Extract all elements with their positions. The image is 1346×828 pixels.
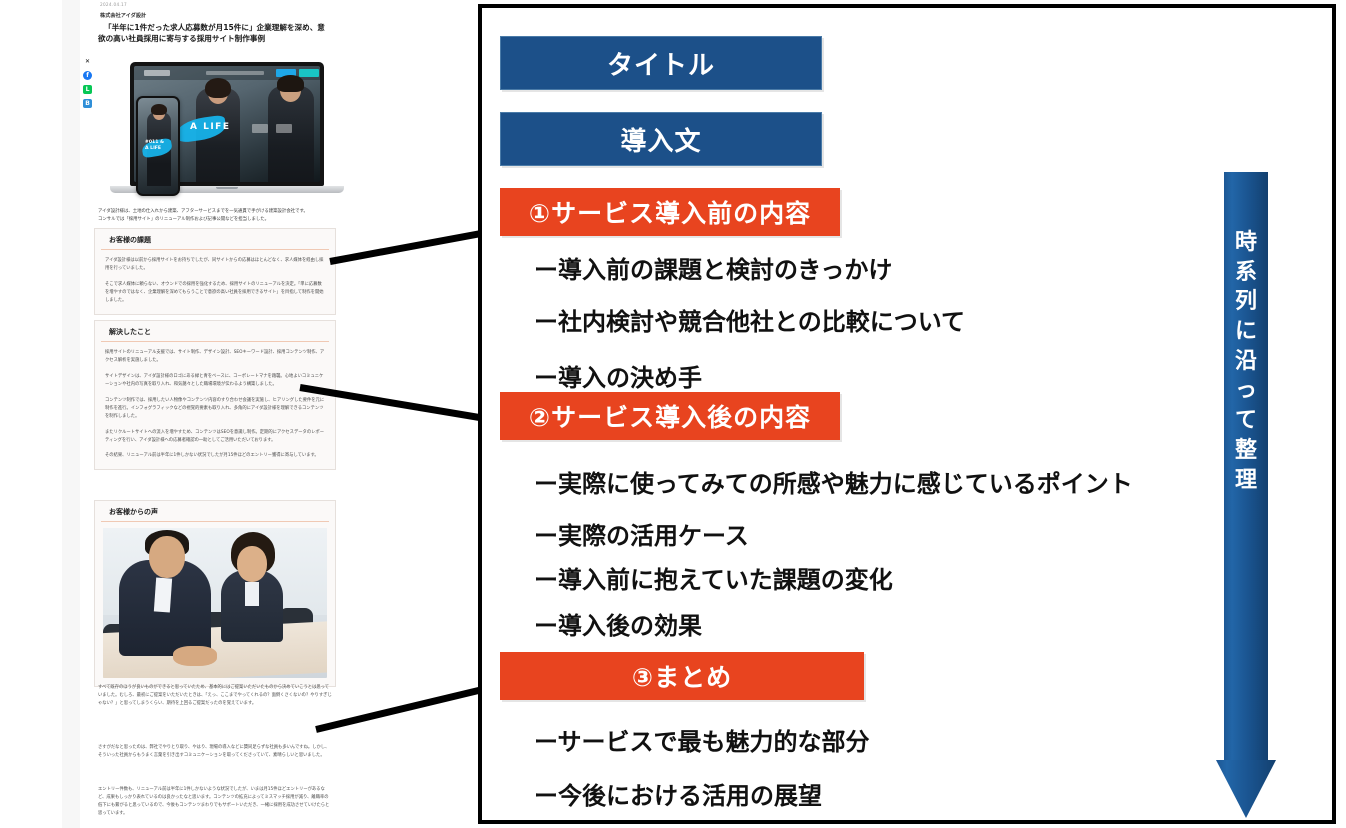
article-lead-line-2: コンサルでは「採用サイト」のリニューアル制作および記事公開などを担当しました。 (98, 216, 332, 224)
arrow-char: 理 (1230, 466, 1262, 496)
arrow-char: 整 (1230, 436, 1262, 466)
section-paragraph: その結果、リニューアル前は半年に1件しかない状況でしたが月15件ほどのエントリー… (105, 452, 325, 460)
block-section-1[interactable]: ①サービス導入前の内容 (500, 188, 840, 236)
laptop-notch (216, 187, 238, 189)
mock-person-a-hair (205, 78, 231, 98)
arrow-char: に (1230, 317, 1262, 347)
article-section-voice: お客様からの声 (94, 500, 336, 687)
article-screenshot-panel: 2024.04.17 株式会社アイダ設計 「半年に1件だった求人応募数が月15件… (62, 0, 350, 828)
line-icon[interactable]: L (83, 85, 92, 94)
article-title: 「半年に1件だった求人応募数が月15件に」企業理解を深め、意欲の高い社員採用に寄… (98, 22, 330, 44)
arrow-head (1216, 760, 1276, 818)
section-paragraph: 採用サイトのリニューアル支援では、サイト制作、デザイン設計、SEOキーワード設計… (105, 349, 325, 365)
photo-person-male-head (149, 536, 185, 578)
block-label: ③まとめ (632, 658, 732, 694)
photo-person-female-head (237, 546, 267, 582)
arrow-char: て (1230, 406, 1262, 436)
article-lead: アイダ設計様は、土地の仕入れから建築、アフターサービスまでを一気通貫で手がける建… (98, 208, 332, 223)
mock-menu (206, 71, 264, 75)
section-body: アイダ設計様は以前から採用サイトをお持ちでしたが、同サイトからの応募はほとんどな… (95, 250, 335, 314)
mock-phone-brand-text: #011 &A LIFE (145, 140, 164, 151)
block-label: 導入文 (620, 121, 701, 158)
section-paragraph: サイトデザインは、アイダ設計様のロゴにある緑と青をベースに、コーポレートマナを踏… (105, 373, 325, 389)
bullet-item: ー導入前の課題と検討のきっかけ (534, 250, 892, 285)
mock-person-b-hair (277, 75, 304, 92)
arrow-char: 列 (1230, 287, 1262, 317)
bullet-item: ー導入後の効果 (534, 606, 702, 641)
bullet-item: ー今後における活用の展望 (534, 776, 822, 811)
bullet-item: ー導入の決め手 (534, 358, 702, 393)
section-body: 採用サイトのリニューアル支援では、サイト制作、デザイン設計、SEOキーワード設計… (95, 342, 335, 469)
block-section-3[interactable]: ③まとめ (500, 652, 864, 700)
phone-mockup: #011 &A LIFE (136, 96, 180, 196)
hatena-icon[interactable]: B (83, 99, 92, 108)
photo-person-female-shirt (245, 582, 259, 606)
mock-brand-text: A LIFE (190, 122, 230, 132)
bullet-item: ー導入前に抱えていた課題の変化 (534, 560, 893, 595)
section-paragraph: コンテンツ制作では、採用したい人物像やコンテンツ内容のすり合わせ会議を実施し、ヒ… (105, 397, 325, 421)
social-share-rail: ✕ f L B (83, 57, 97, 113)
article-date: 2024.04.17 (100, 2, 127, 7)
article-company-name: 株式会社アイダ設計 (100, 12, 146, 19)
arrow-char: 時 (1230, 228, 1262, 258)
section-heading: 解決したこと (101, 321, 329, 342)
block-label: ②サービス導入後の内容 (529, 398, 811, 434)
block-label: タイトル (607, 45, 715, 82)
section-heading: お客様からの声 (101, 501, 329, 522)
article-lead-line-1: アイダ設計様は、土地の仕入れから建築、アフターサービスまでを一気通貫で手がける建… (98, 208, 332, 216)
arrow-char: 系 (1230, 258, 1262, 288)
article-tail-paragraph: エントリー件数も、リニューアル前は半年に1件しかないような状況でしたが、いまは月… (98, 786, 332, 818)
bullet-item: ー社内検討や競合他社との比較について (534, 302, 965, 337)
mock-phone-person-hair (151, 104, 167, 115)
phone-screen: #011 &A LIFE (138, 98, 178, 194)
article-page: 2024.04.17 株式会社アイダ設計 「半年に1件だった求人応募数が月15件… (80, 0, 350, 828)
bullet-item: ー実際の活用ケース (534, 516, 749, 551)
device-mockup-image: A LIFE #011 &A LIFE (108, 58, 348, 204)
article-tail-paragraph: さすがだなと思ったのは、弊社でやりとり取り、やはり、現場の導入などに賛同足らずな… (98, 744, 332, 760)
diagram-frame: タイトル 導入文 ①サービス導入前の内容 ー導入前の課題と検討のきっかけ ー社内… (478, 4, 1336, 824)
section-paragraph: そこで求人媒体に頼らない、オウンドでの採用を強化するため、採用サイトのリニューア… (105, 281, 325, 305)
section-heading: お客様の課題 (101, 229, 329, 250)
photo-person-male-shirt (154, 577, 172, 612)
article-section-solution: 解決したこと 採用サイトのリニューアル支援では、サイト制作、デザイン設計、SEO… (94, 320, 336, 470)
block-label: ①サービス導入前の内容 (529, 194, 811, 230)
section-paragraph: アイダ設計様は以前から採用サイトをお持ちでしたが、同サイトからの応募はほとんどな… (105, 257, 325, 273)
section-paragraph: またリクルートサイトへの流入を増やすため、コンテンツはSEOを意識し制作。定期的… (105, 429, 325, 445)
mock-tag-2 (276, 124, 292, 133)
bullet-item: ー実際に使ってみての所感や魅力に感じているポイント (534, 464, 1133, 499)
photo-person-male-hands (173, 646, 217, 666)
article-section-challenge: お客様の課題 アイダ設計様は以前から採用サイトをお持ちでしたが、同サイトからの応… (94, 228, 336, 315)
bullet-item: ーサービスで最も魅力的な部分 (534, 722, 870, 757)
arrow-label: 時 系 列 に 沿 っ て 整 理 (1230, 228, 1262, 495)
mock-logo (144, 70, 170, 76)
customer-interview-photo (103, 528, 327, 678)
time-series-arrow: 時 系 列 に 沿 っ て 整 理 (1216, 172, 1276, 820)
mock-cta-button-2 (299, 69, 319, 77)
facebook-icon[interactable]: f (83, 71, 92, 80)
x-icon[interactable]: ✕ (83, 57, 92, 66)
block-section-2[interactable]: ②サービス導入後の内容 (500, 392, 840, 440)
article-tail-paragraph: すべて既存のほうが良いものができると思っていたため、基本的にはご提案いただいたも… (98, 684, 332, 708)
mock-tag-1 (252, 124, 268, 133)
arrow-char: 沿 (1230, 347, 1262, 377)
block-intro[interactable]: 導入文 (500, 112, 822, 166)
arrow-char: っ (1230, 376, 1262, 406)
block-title[interactable]: タイトル (500, 36, 822, 90)
